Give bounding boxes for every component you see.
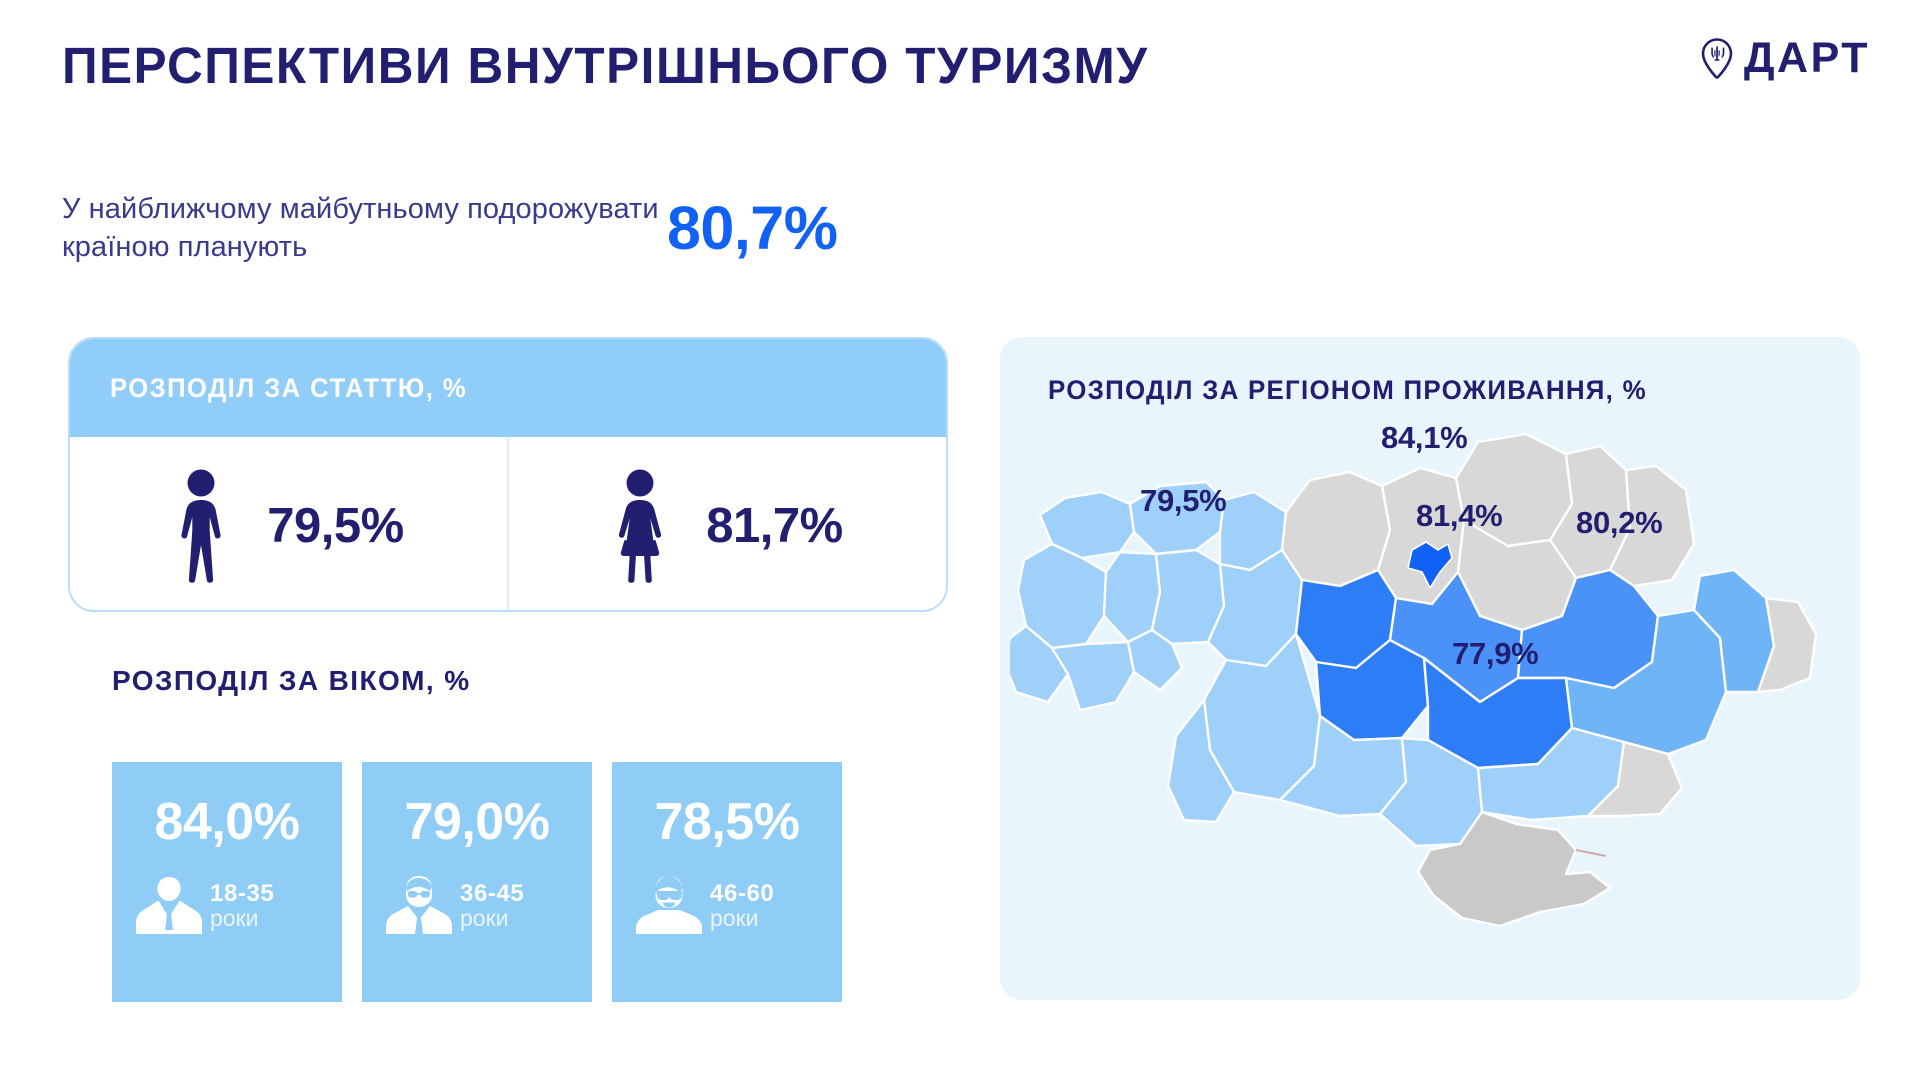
map-label-north-kyiv: 84,1% xyxy=(1381,420,1467,456)
male-figure-icon xyxy=(173,468,229,584)
age-card-46-60: 78,5% 46-60 роки xyxy=(612,762,842,1002)
page-title: ПЕРСПЕКТИВИ ВНУТРІШНЬОГО ТУРИЗМУ xyxy=(62,36,1149,95)
age-section-title: РОЗПОДІЛ ЗА ВІКОМ, % xyxy=(112,665,471,697)
age-range: 46-60 xyxy=(710,881,774,906)
age-range: 18-35 xyxy=(210,881,274,906)
female-figure-icon xyxy=(612,468,668,584)
lead-text: У найближчому майбутньому подорожувати к… xyxy=(62,190,682,267)
brand-name: ДАРТ xyxy=(1744,37,1870,80)
age-unit: роки xyxy=(210,906,274,930)
gender-value-female: 81,7% xyxy=(706,498,842,554)
age-value: 78,5% xyxy=(612,792,842,852)
brand-logo: ДАРТ xyxy=(1700,37,1870,80)
map-label-south: 77,9% xyxy=(1452,636,1538,672)
lead-statement: У найближчому майбутньому подорожувати к… xyxy=(62,190,837,267)
gender-card-body: 79,5% 81,7% xyxy=(70,437,946,612)
map-label-west: 79,5% xyxy=(1140,483,1226,519)
man-with-sunglasses-icon xyxy=(634,874,704,936)
map-pin-trident-icon xyxy=(1700,38,1734,80)
page-header: ПЕРСПЕКТИВИ ВНУТРІШНЬОГО ТУРИЗМУ ДАРТ xyxy=(0,0,1920,130)
gender-distribution-card: РОЗПОДІЛ ЗА СТАТТЮ, % 79,5% 81,7% xyxy=(68,337,948,612)
age-card-18-35: 84,0% 18-35 роки xyxy=(112,762,342,1002)
map-crimea-bridge xyxy=(1576,850,1606,856)
region-section-title: РОЗПОДІЛ ЗА РЕГІОНОМ ПРОЖИВАННЯ, % xyxy=(1048,375,1647,406)
age-unit: роки xyxy=(460,906,524,930)
gender-cell-female: 81,7% xyxy=(509,437,946,612)
age-unit: роки xyxy=(710,906,774,930)
age-range: 36-45 xyxy=(460,881,524,906)
age-value: 79,0% xyxy=(362,792,592,852)
gender-section-title: РОЗПОДІЛ ЗА СТАТТЮ, % xyxy=(110,373,467,404)
age-cards-list: 84,0% 18-35 роки 79,0% xyxy=(112,762,842,1002)
young-man-icon xyxy=(134,874,204,936)
gender-cell-male: 79,5% xyxy=(70,437,509,612)
gender-card-header: РОЗПОДІЛ ЗА СТАТТЮ, % xyxy=(70,339,946,437)
map-label-center-east: 81,4% xyxy=(1416,498,1502,534)
map-label-east: 80,2% xyxy=(1576,505,1662,541)
map-region-grey-north-1 xyxy=(1282,472,1390,586)
lead-value: 80,7% xyxy=(667,193,837,263)
age-value: 84,0% xyxy=(112,792,342,852)
man-with-glasses-icon xyxy=(384,874,454,936)
gender-value-male: 79,5% xyxy=(267,498,403,554)
age-card-36-45: 79,0% 36-45 роки xyxy=(362,762,592,1002)
